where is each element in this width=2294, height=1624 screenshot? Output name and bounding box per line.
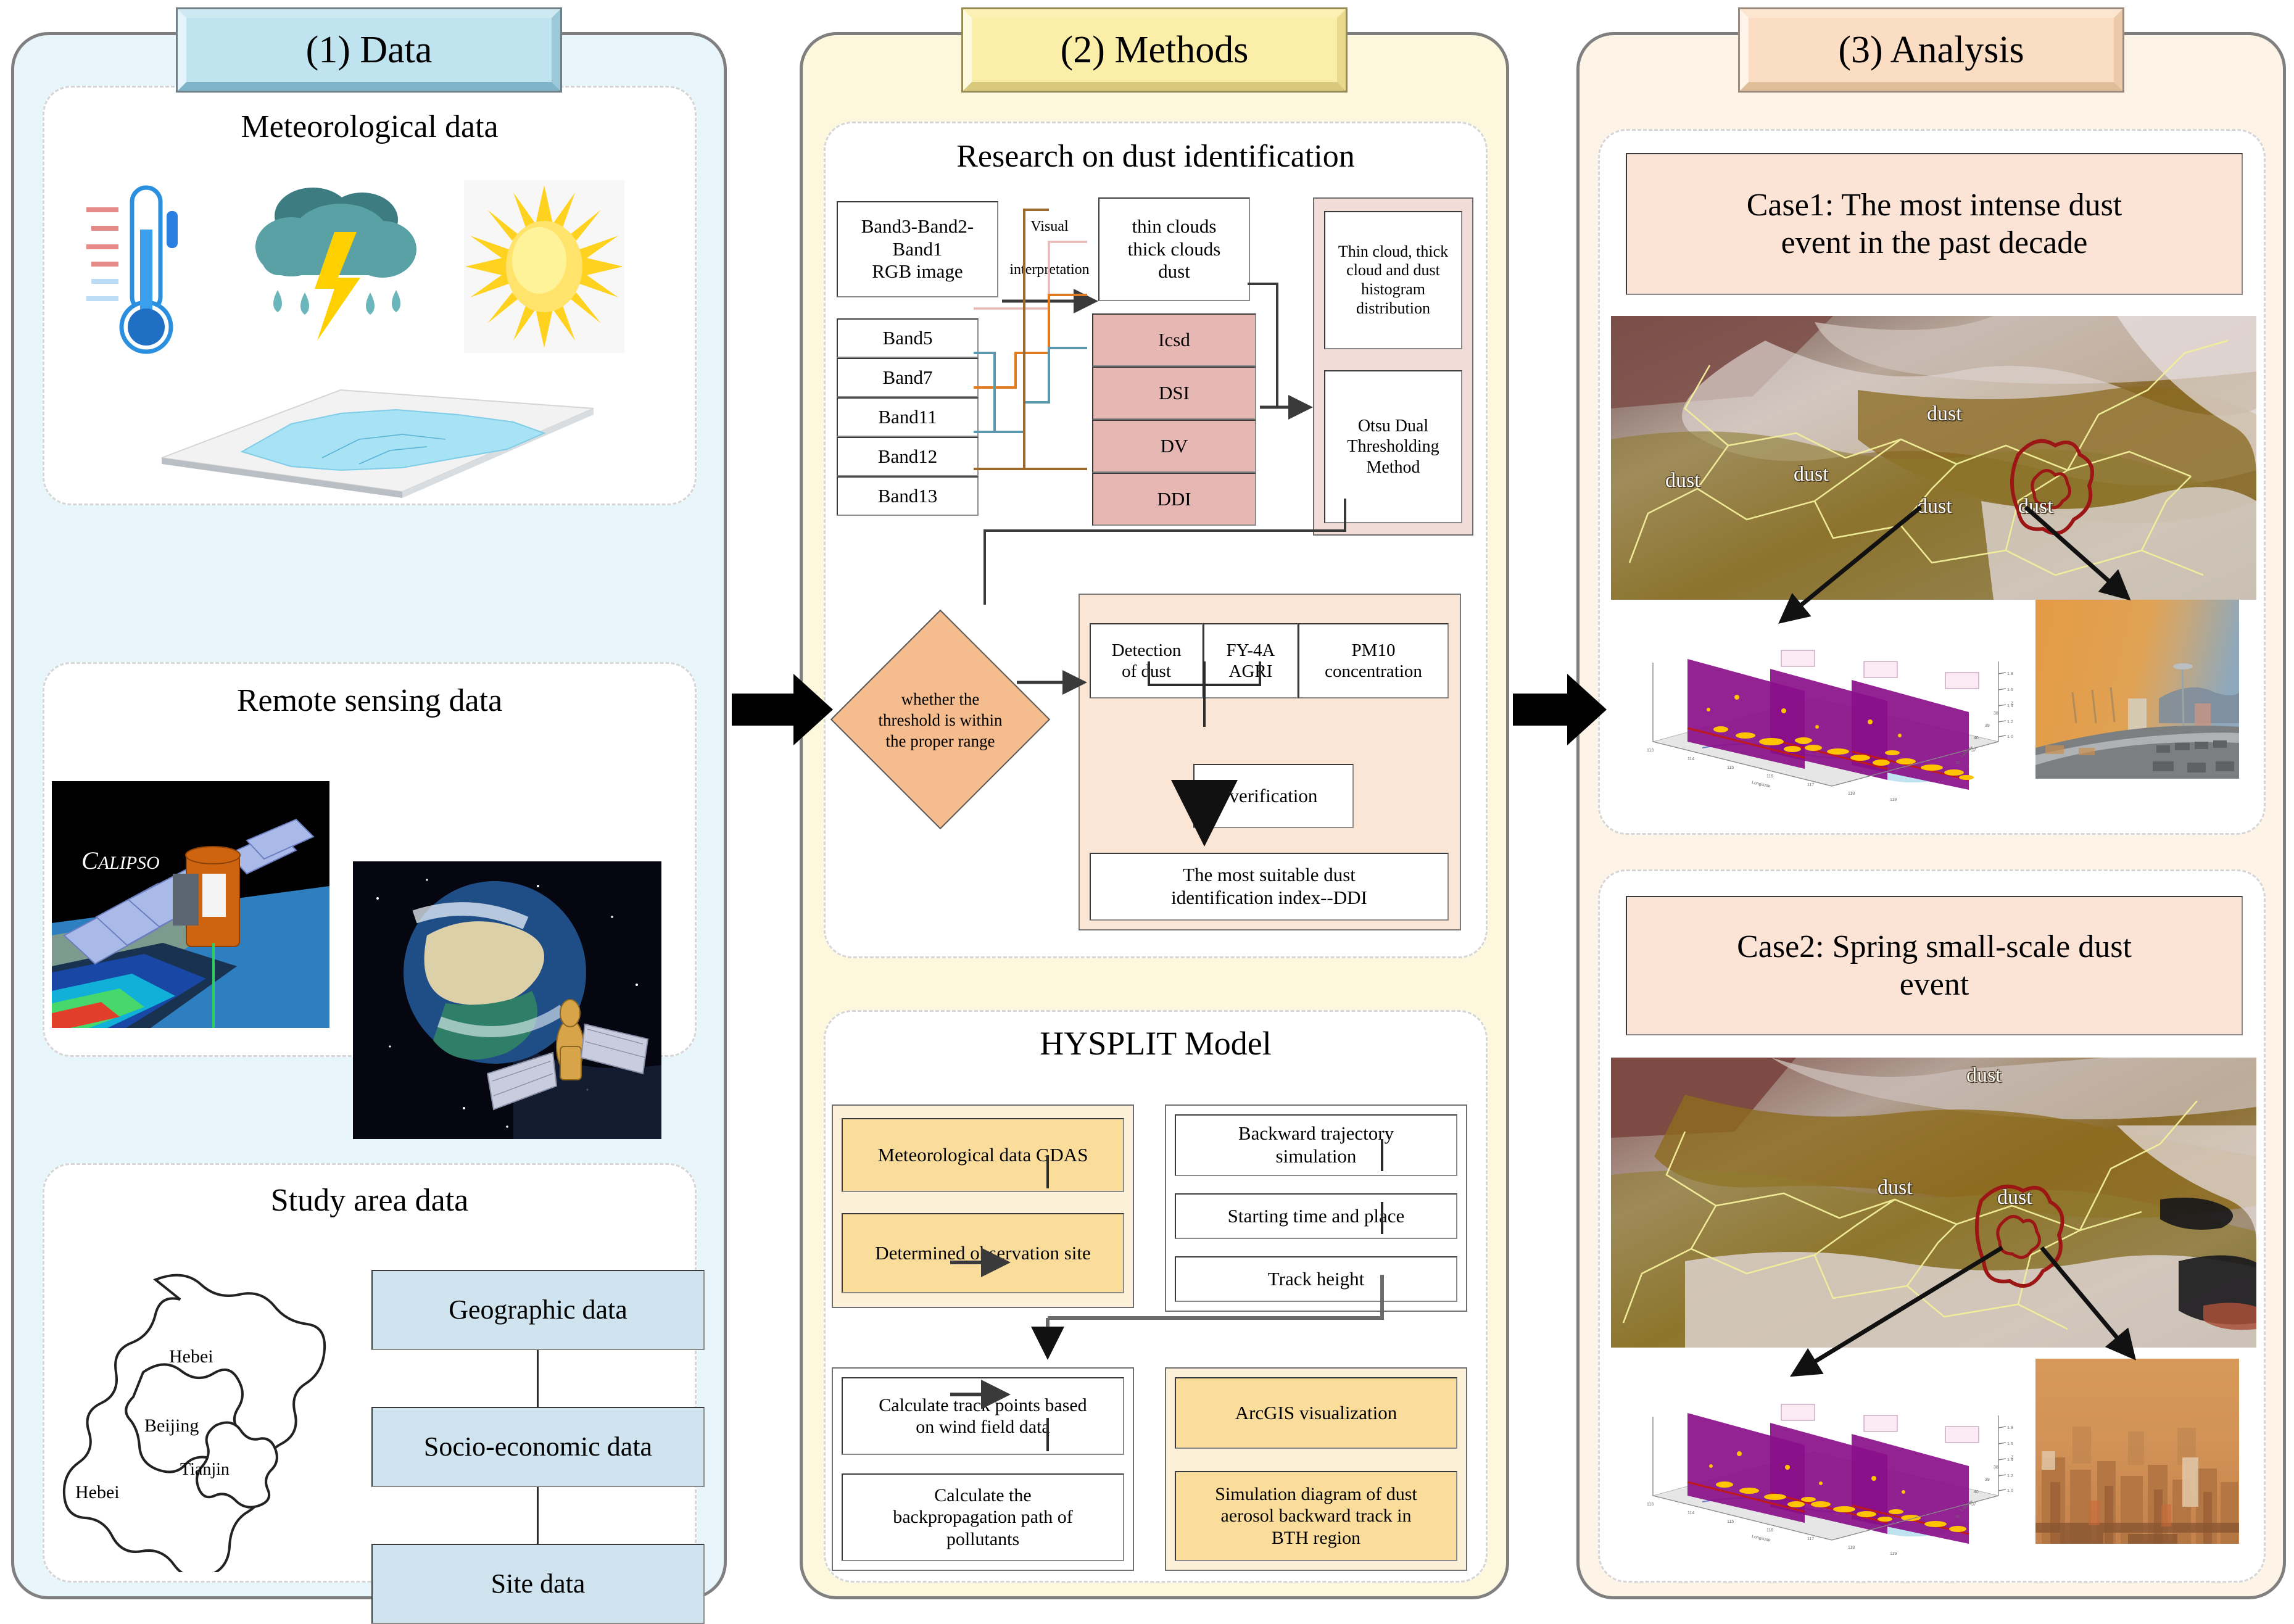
dust-identification-card: Research on dust identification Band3-Ba…	[824, 122, 1488, 958]
visual-interpretation-label: Visual interpretation	[1003, 215, 1096, 282]
hysplit-model-card: HYSPLIT Model Meteorological data GDAS D…	[824, 1010, 1488, 1583]
svg-text:119: 119	[1890, 798, 1897, 802]
socio-economic-data-box: Socio-economic data	[371, 1407, 705, 1487]
svg-text:39: 39	[1985, 724, 1990, 728]
rgb-line-2: Band1	[893, 238, 943, 261]
meteorological-heading: Meteorological data	[44, 109, 695, 145]
otsu-thresholding-box: Otsu Dual Thresholding Method	[1324, 370, 1462, 523]
data-panel: (1) Data Meteorological data	[11, 32, 727, 1599]
case2-dust-photo	[2035, 1359, 2239, 1544]
detection-of-dust-box: Detection of dust	[1090, 623, 1203, 698]
band-5-box: Band5	[837, 318, 979, 358]
svg-text:117: 117	[1807, 783, 1814, 787]
rgb-line-1: Band3-Band2-	[861, 215, 974, 238]
svg-text:113: 113	[1647, 1502, 1654, 1507]
case2-dust-label-3: dust	[1997, 1186, 2032, 1209]
map-slab-icon	[137, 365, 606, 501]
case1-dust-label-4: dust	[1917, 495, 1952, 518]
svg-text:118: 118	[1848, 792, 1855, 796]
svg-text:119: 119	[1890, 1552, 1897, 1556]
site-data-box: Site data	[371, 1544, 705, 1624]
methods-panel: (2) Methods Research on dust identificat…	[800, 32, 1509, 1599]
visual-line-2: interpretation	[1003, 258, 1096, 281]
observation-site-box: Determined observation site	[842, 1213, 1124, 1293]
rgb-line-3: RGB image	[872, 260, 963, 283]
result-ddi-box: The most suitable dust identification in…	[1090, 853, 1449, 921]
case1-dust-photo	[2035, 600, 2239, 779]
class-line-3: dust	[1158, 260, 1190, 283]
map-label-tianjin: Tianjin	[180, 1460, 230, 1479]
simulation-diagram-box: Simulation diagram of dust aerosol backw…	[1175, 1471, 1457, 1561]
svg-text:1.6: 1.6	[2007, 688, 2013, 692]
band-12-box: Band12	[837, 437, 979, 476]
svg-text:40: 40	[1974, 736, 1979, 740]
svg-text:39: 39	[1985, 1478, 1990, 1482]
svg-text:117: 117	[1807, 1537, 1814, 1541]
svg-text:1.2: 1.2	[2007, 1474, 2013, 1478]
gdas-input-box: Meteorological data GDAS	[842, 1118, 1124, 1192]
svg-text:36: 36	[1955, 1515, 1960, 1519]
remote-sensing-data-card: Remote sensing data	[43, 662, 697, 1057]
case1-dust-label-1: dust	[1927, 402, 1962, 426]
case1-dust-label-2: dust	[1665, 469, 1700, 492]
meteorological-data-card: Meteorological data	[43, 86, 697, 505]
threshold-decision-label: whether the threshold is within the prop…	[838, 666, 1043, 775]
class-line-2: thick clouds	[1128, 238, 1221, 261]
case2-calipso-plot: 1.81.61.4 1.21.0 113114115 116117118 119…	[1628, 1372, 2016, 1557]
svg-text:116: 116	[1766, 774, 1773, 779]
analysis-panel: (3) Analysis Case1: The most intense dus…	[1576, 32, 2286, 1599]
connector-geographic-socio	[537, 1350, 539, 1407]
case1-dust-label-3: dust	[1794, 463, 1829, 486]
backpropagation-path-box: Calculate the backpropagation path of po…	[842, 1473, 1124, 1561]
svg-text:40: 40	[1974, 1490, 1979, 1494]
backward-trajectory-box: Backward trajectory simulation	[1175, 1114, 1457, 1176]
thunderstorm-cloud-icon	[248, 179, 427, 364]
case1-dust-label-5: dust	[2018, 495, 2053, 518]
case1-card: Case1: The most intense dust event in th…	[1598, 129, 2266, 835]
svg-text:116: 116	[1766, 1528, 1773, 1533]
panel-title-data: (1) Data	[178, 9, 560, 91]
case2-heading-line-2: event	[1900, 966, 1969, 1003]
case1-heading-box: Case1: The most intense dust event in th…	[1626, 153, 2243, 295]
thermometer-icon	[80, 180, 210, 359]
case1-heading-line-1: Case1: The most intense dust	[1747, 186, 2122, 224]
track-height-box: Track height	[1175, 1256, 1457, 1302]
index-ddi-box: DDI	[1092, 473, 1256, 526]
band-11-box: Band11	[837, 397, 979, 437]
earth-orbit-satellite-image	[353, 861, 661, 1139]
case1-heading-line-2: event in the past decade	[1781, 224, 2088, 262]
case2-satellite-map: dust dust dust	[1611, 1058, 2256, 1348]
study-area-heading: Study area data	[44, 1182, 695, 1219]
case2-heading-line-1: Case2: Spring small-scale dust	[1737, 928, 2132, 966]
calculate-track-points-box: Calculate track points based on wind fie…	[842, 1377, 1124, 1455]
panel-title-analysis: (3) Analysis	[1740, 9, 2122, 91]
svg-text:1.8: 1.8	[2007, 672, 2013, 676]
connector-socio-site	[537, 1487, 539, 1544]
case1-satellite-map: dust dust dust dust dust	[1611, 316, 2256, 600]
band-13-box: Band13	[837, 476, 979, 516]
fy4a-agri-box: FY-4A AGRI	[1203, 623, 1298, 698]
svg-text:114: 114	[1687, 757, 1694, 761]
svg-text:1.0: 1.0	[2007, 735, 2013, 739]
svg-text:113: 113	[1647, 748, 1654, 753]
map-label-beijing: Beijing	[144, 1415, 199, 1436]
dust-identification-heading: Research on dust identification	[826, 138, 1486, 175]
study-area-data-card: Study area data Hebei Beijing Tianjin He…	[43, 1163, 697, 1583]
svg-text:38: 38	[1994, 1465, 1998, 1470]
svg-text:115: 115	[1727, 1520, 1734, 1524]
case2-dust-label-1: dust	[1966, 1064, 2002, 1087]
svg-text:1.8: 1.8	[2007, 1426, 2013, 1430]
rgb-image-box: Band3-Band2- Band1 RGB image	[837, 201, 998, 297]
calipso-satellite-image: CALIPSO	[52, 781, 329, 1028]
svg-text:36: 36	[1955, 761, 1960, 765]
bth-region-map: Hebei Beijing Tianjin Hebei	[51, 1251, 359, 1572]
svg-text:115: 115	[1727, 766, 1734, 770]
band-7-box: Band7	[837, 358, 979, 397]
case1-calipso-plot: 1.81.61.4 1.21.0 113114115 116117118 119…	[1628, 618, 2016, 803]
case2-card: Case2: Spring small-scale dust event	[1598, 869, 2266, 1583]
svg-text:1.2: 1.2	[2007, 720, 2013, 724]
svg-text:Z: Z	[2011, 702, 2014, 706]
case2-heading-box: Case2: Spring small-scale dust event	[1626, 896, 2243, 1035]
histogram-distribution-box: Thin cloud, thick cloud and dust histogr…	[1324, 211, 1462, 349]
svg-text:114: 114	[1687, 1511, 1694, 1515]
map-label-hebei-north: Hebei	[169, 1346, 213, 1367]
class-line-1: thin clouds	[1132, 215, 1217, 238]
index-dv-box: DV	[1092, 420, 1256, 473]
verification-box: verification	[1193, 764, 1354, 828]
visual-line-1: Visual	[1003, 215, 1096, 238]
starting-time-place-box: Starting time and place	[1175, 1193, 1457, 1239]
map-label-hebei-south: Hebei	[75, 1482, 120, 1502]
svg-text:Z: Z	[2011, 1456, 2014, 1460]
index-icsd-box: Icsd	[1092, 313, 1256, 367]
hysplit-heading: HYSPLIT Model	[826, 1024, 1486, 1063]
geographic-data-box: Geographic data	[371, 1270, 705, 1350]
arcgis-visualization-box: ArcGIS visualization	[1175, 1377, 1457, 1449]
remote-sensing-heading: Remote sensing data	[44, 682, 695, 719]
svg-text:1.6: 1.6	[2007, 1442, 2013, 1446]
case2-dust-label-2: dust	[1878, 1176, 1913, 1199]
pm10-concentration-box: PM10 concentration	[1298, 623, 1449, 698]
panel-title-methods: (2) Methods	[963, 9, 1346, 91]
sun-icon	[464, 180, 624, 353]
cloud-dust-classes-box: thin clouds thick clouds dust	[1098, 197, 1250, 301]
svg-text:118: 118	[1848, 1546, 1855, 1550]
svg-text:38: 38	[1994, 711, 1998, 716]
index-dsi-box: DSI	[1092, 367, 1256, 420]
svg-text:1.0: 1.0	[2007, 1489, 2013, 1493]
